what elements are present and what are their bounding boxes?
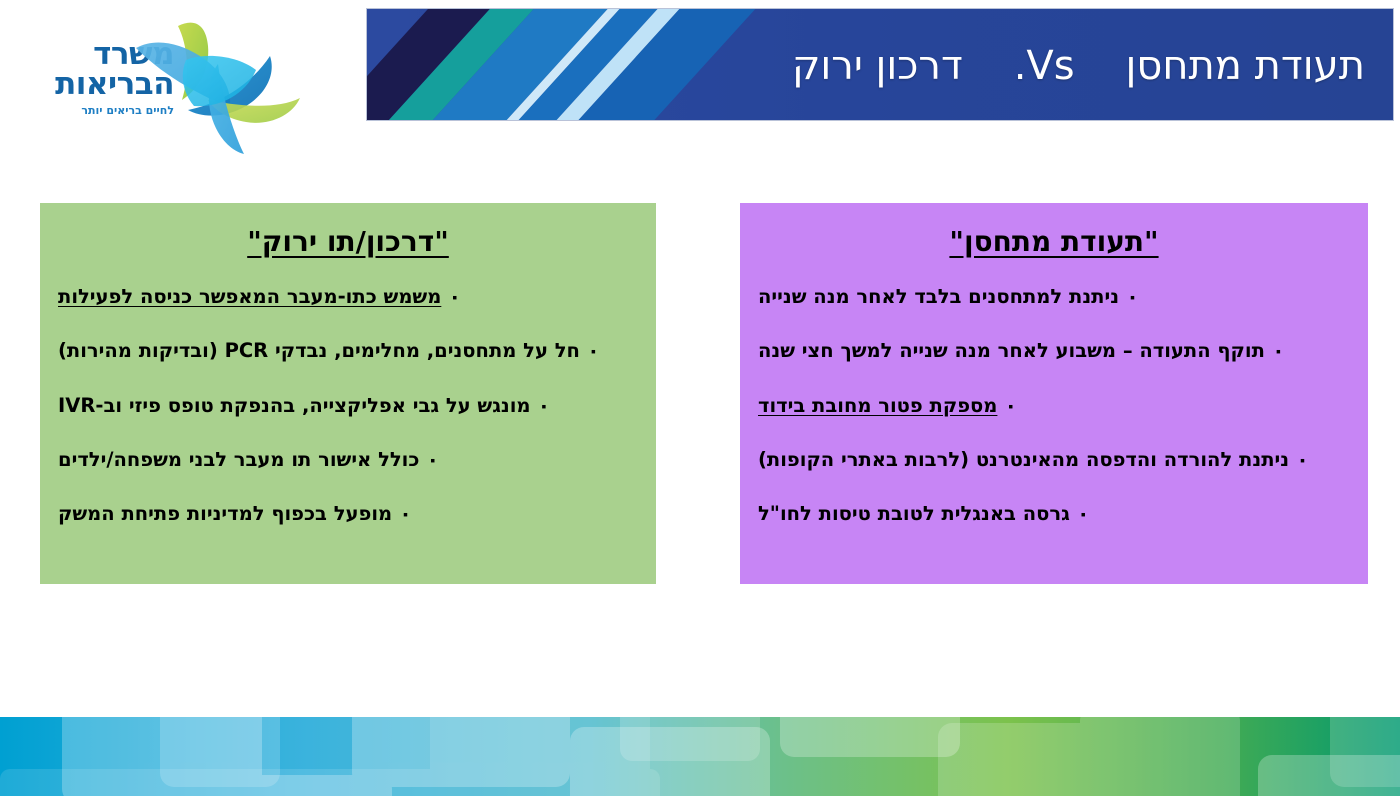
vaccination-certificate-panel: "תעודת מתחסן" ▪ ניתנת למתחסנים בלבד לאחר… bbox=[740, 203, 1368, 584]
list-item: ▪ מופעל בכפוף למדיניות פתיחת המשק bbox=[58, 501, 638, 527]
list-item: ▪ תוקף התעודה – משבוע לאחר מנה שנייה למש… bbox=[758, 338, 1350, 364]
purple-panel-heading: "תעודת מתחסן" bbox=[758, 225, 1350, 258]
list-item-label: מספקת פטור מחובת בידוד bbox=[758, 393, 997, 419]
square-bullet-icon: ▪ bbox=[430, 447, 435, 470]
list-item-label: גרסה באנגלית לטובת טיסות לחו"ל bbox=[758, 501, 1070, 527]
list-item: ▪ מספקת פטור מחובת בידוד bbox=[758, 393, 1350, 419]
list-item-label: ניתנת למתחסנים בלבד לאחר מנה שנייה bbox=[758, 284, 1119, 310]
green-panel-bullet-list: ▪ משמש כתו-מעבר המאפשר כניסה לפעילות ▪ ח… bbox=[58, 284, 638, 528]
list-item-label: משמש כתו-מעבר המאפשר כניסה לפעילות bbox=[58, 284, 441, 310]
square-bullet-icon: ▪ bbox=[1081, 501, 1086, 524]
ministry-of-health-logo: משרד הבריאות לחיים בריאים יותר bbox=[14, 8, 304, 163]
list-item: ▪ ניתנת למתחסנים בלבד לאחר מנה שנייה bbox=[758, 284, 1350, 310]
square-bullet-icon: ▪ bbox=[452, 284, 457, 307]
list-item-label: חל על מתחסנים, מחלימים, נבדקי PCR (ובדיק… bbox=[58, 338, 580, 364]
square-bullet-icon: ▪ bbox=[1130, 284, 1135, 307]
gradient-blocks-graphic bbox=[0, 717, 1400, 796]
square-bullet-icon: ▪ bbox=[1008, 393, 1013, 416]
list-item-label: כולל אישור תו מעבר לבני משפחה/ילדים bbox=[58, 447, 419, 473]
list-item: ▪ משמש כתו-מעבר המאפשר כניסה לפעילות bbox=[58, 284, 638, 310]
list-item-label: מונגש על גבי אפליקצייה, בהנפקת טופס פיזי… bbox=[58, 393, 531, 419]
list-item: ▪ מונגש על גבי אפליקצייה, בהנפקת טופס פי… bbox=[58, 393, 638, 419]
slide-canvas: משרד הבריאות לחיים בריאים יותר bbox=[0, 0, 1400, 796]
list-item-label: ניתנת להורדה והדפסה מהאינטרנט (לרבות באת… bbox=[758, 447, 1289, 473]
square-bullet-icon: ▪ bbox=[1300, 447, 1305, 470]
square-bullet-icon: ▪ bbox=[403, 501, 408, 524]
green-panel-heading: "דרכון/תו ירוק" bbox=[58, 225, 638, 258]
square-bullet-icon: ▪ bbox=[591, 338, 596, 361]
purple-panel-bullet-list: ▪ ניתנת למתחסנים בלבד לאחר מנה שנייה ▪ ת… bbox=[758, 284, 1350, 528]
decorative-gradient-bar bbox=[0, 717, 1400, 796]
green-passport-panel: "דרכון/תו ירוק" ▪ משמש כתו-מעבר המאפשר כ… bbox=[40, 203, 656, 584]
list-item: ▪ ניתנת להורדה והדפסה מהאינטרנט (לרבות ב… bbox=[758, 447, 1350, 473]
list-item-label: מופעל בכפוף למדיניות פתיחת המשק bbox=[58, 501, 392, 527]
square-bullet-icon: ▪ bbox=[542, 393, 547, 416]
list-item-label: תוקף התעודה – משבוע לאחר מנה שנייה למשך … bbox=[758, 338, 1265, 364]
pinwheel-star-icon bbox=[134, 12, 304, 162]
square-bullet-icon: ▪ bbox=[1276, 338, 1281, 361]
header-banner: תעודת מתחסן Vs. דרכון ירוק bbox=[366, 8, 1394, 121]
list-item: ▪ חל על מתחסנים, מחלימים, נבדקי PCR (ובד… bbox=[58, 338, 638, 364]
list-item: ▪ כולל אישור תו מעבר לבני משפחה/ילדים bbox=[58, 447, 638, 473]
list-item: ▪ גרסה באנגלית לטובת טיסות לחו"ל bbox=[758, 501, 1350, 527]
page-title: תעודת מתחסן Vs. דרכון ירוק bbox=[792, 9, 1365, 121]
